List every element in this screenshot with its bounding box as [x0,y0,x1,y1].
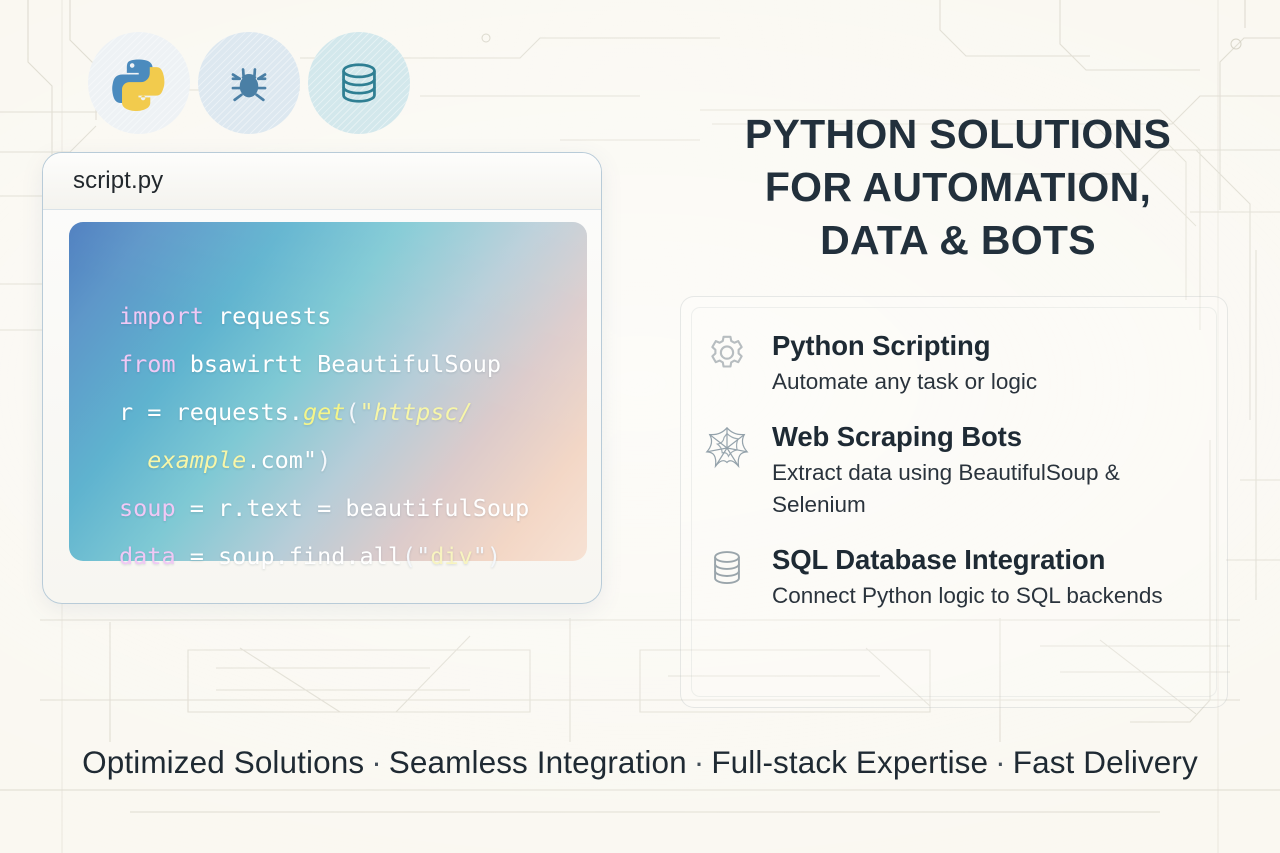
page-title: PYTHON SOLUTIONS FOR AUTOMATION, DATA & … [660,108,1256,267]
code-line: import requests [119,292,529,340]
footer-item: Optimized Solutions [82,744,364,780]
python-logo-chip [88,32,190,134]
code-line: from bsawirtt BeautifulSoup [119,340,529,388]
code-token: ( [345,398,359,426]
code-token: "httpsc/ [360,398,473,426]
features-list: Python Scripting Automate any task or lo… [700,328,1220,633]
database-icon-wrap [700,542,754,596]
code-token: ") [473,542,501,570]
database-icon [333,57,385,109]
footer-separator: · [364,744,389,780]
code-token: = r.text = beautifulSoup [176,494,530,522]
database-chip [308,32,410,134]
code-token: example [147,446,246,474]
code-token: data [119,542,176,570]
feature-item-sql-database-integration[interactable]: SQL Database Integration Connect Python … [700,542,1220,612]
code-token: requests [204,302,331,330]
code-token: soup [119,494,176,522]
feature-title: Python Scripting [772,328,1220,364]
feature-text: Web Scraping Bots Extract data using Bea… [772,419,1220,521]
technology-icon-row [88,32,410,134]
headline-line-2: FOR AUTOMATION, [765,164,1151,210]
feature-text: Python Scripting Automate any task or lo… [772,328,1220,398]
code-token: = soup.find.all [176,542,402,570]
code-token: div [430,542,472,570]
code-token: ) [317,446,331,474]
code-line: data = soup.find.all("div") [119,532,529,580]
python-logo-icon [111,55,167,111]
footer-item: Full-stack Expertise [711,744,988,780]
code-line: example.com") [119,436,529,484]
code-token: import [119,302,204,330]
database-icon [705,546,749,590]
code-card-body: import requestsfrom bsawirtt BeautifulSo… [43,210,601,604]
code-token: bsawirtt BeautifulSoup [176,350,501,378]
bug-icon [222,56,276,110]
code-token: .com" [246,446,317,474]
bug-chip [198,32,300,134]
code-card-header: script.py [43,153,601,210]
feature-item-web-scraping-bots[interactable]: Web Scraping Bots Extract data using Bea… [700,419,1220,521]
code-filename-label: script.py [73,167,163,195]
code-token: from [119,350,176,378]
feature-description: Extract data using BeautifulSoup & Selen… [772,457,1204,521]
code-line: r = requests.get("httpsc/ [119,388,529,436]
gear-icon [704,332,750,378]
feature-title: SQL Database Integration [772,542,1220,578]
feature-text: SQL Database Integration Connect Python … [772,542,1220,612]
code-token: get [303,398,345,426]
headline-line-3: DATA & BOTS [820,217,1096,263]
code-token: " [416,542,430,570]
code-token: r = requests. [119,398,303,426]
feature-title: Web Scraping Bots [772,419,1220,455]
headline-line-1: PYTHON SOLUTIONS [745,111,1171,157]
code-token: ( [402,542,416,570]
code-card: script.py import requestsfrom bsawirtt B… [42,152,602,604]
footer-item: Fast Delivery [1013,744,1198,780]
spiderweb-icon-wrap [700,419,754,473]
code-token [119,446,147,474]
footer-item: Seamless Integration [389,744,687,780]
spiderweb-icon [702,423,752,473]
code-snippet: import requestsfrom bsawirtt BeautifulSo… [119,292,529,580]
feature-item-python-scripting[interactable]: Python Scripting Automate any task or lo… [700,328,1220,398]
code-line: soup = r.text = beautifulSoup [119,484,529,532]
feature-description: Connect Python logic to SQL backends [772,580,1204,612]
footer-separator: · [988,744,1013,780]
feature-description: Automate any task or logic [772,366,1204,398]
right-column: PYTHON SOLUTIONS FOR AUTOMATION, DATA & … [660,108,1256,267]
poster-stage: script.py import requestsfrom bsawirtt B… [0,0,1280,853]
footer-separator: · [687,744,712,780]
footer-tagline: Optimized Solutions·Seamless Integration… [0,744,1280,781]
gear-icon-wrap [700,328,754,382]
